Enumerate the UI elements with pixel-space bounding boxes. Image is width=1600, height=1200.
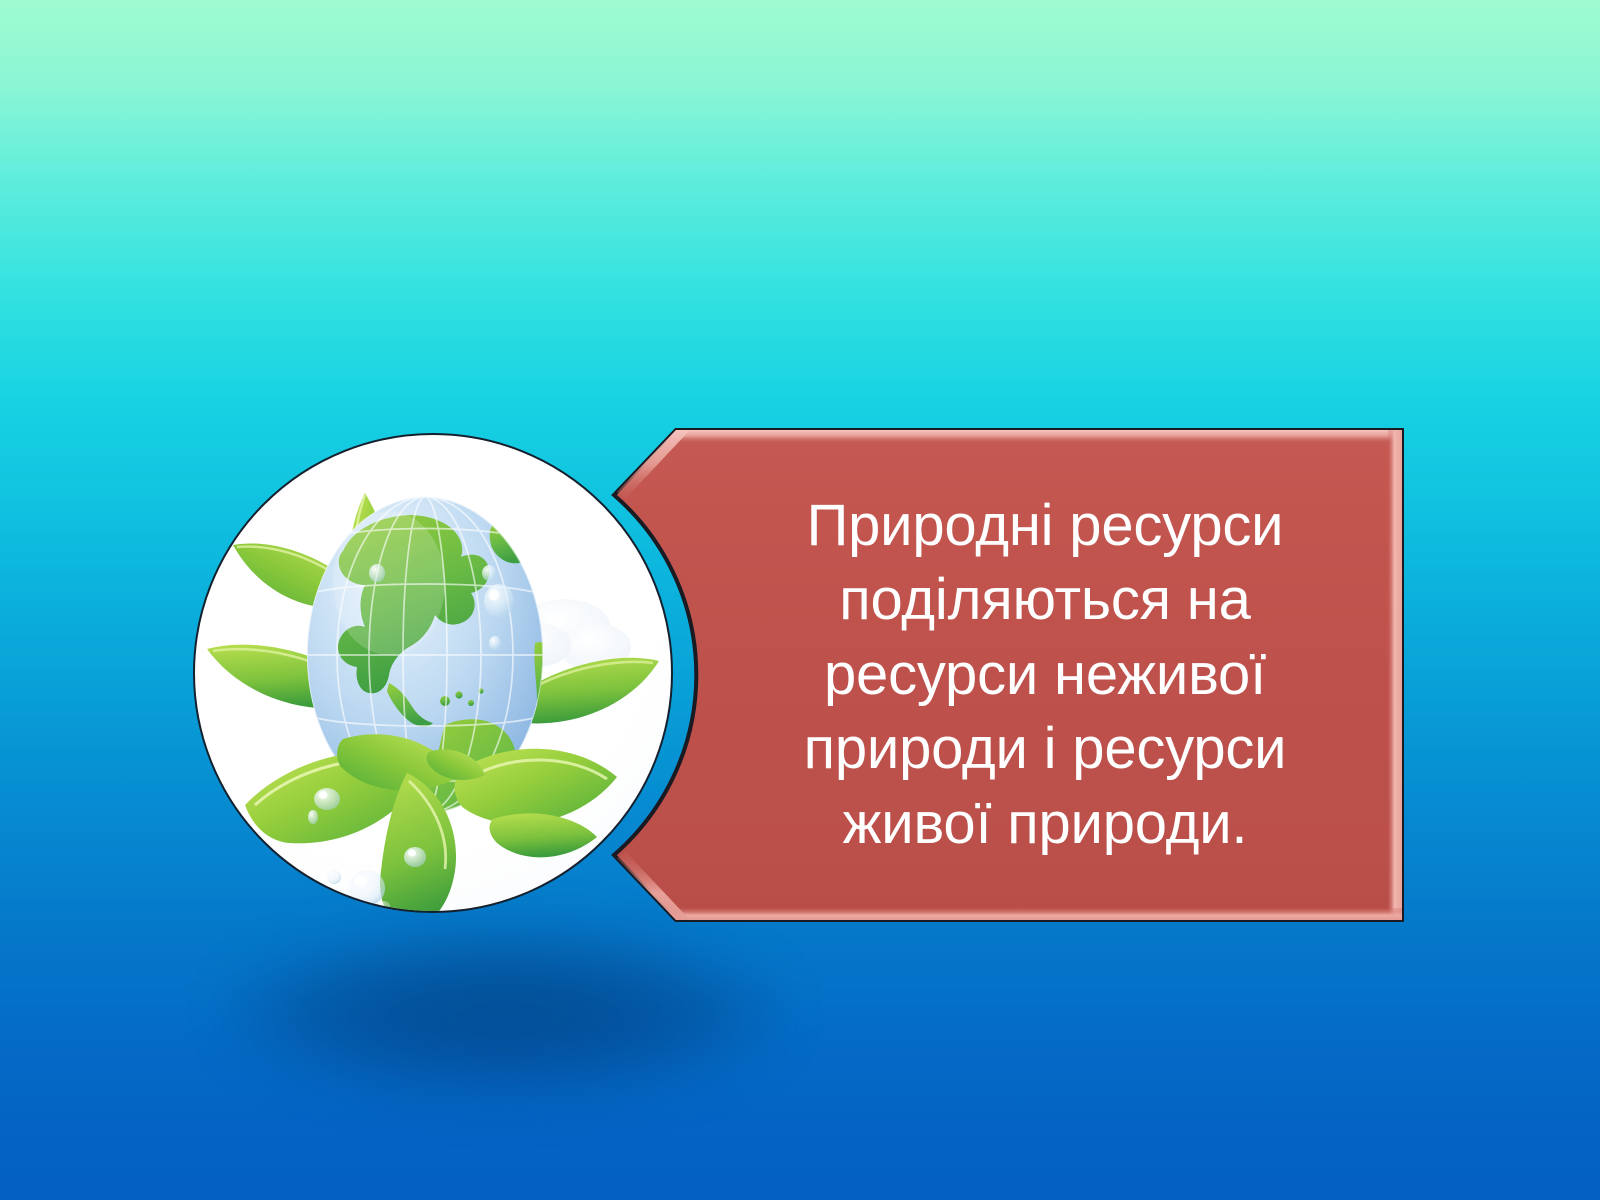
callout-line-2: поділяються на [839,563,1250,638]
slide-canvas: Природні ресурси поділяються на ресурси … [0,0,1600,1200]
ground-shadow [235,930,775,1095]
eco-globe-illustration [193,433,673,913]
callout-bevel-top [612,430,1404,442]
callout-bevel-bottom [612,908,1404,920]
callout-line-1: Природні ресурси [807,489,1284,564]
leaves-front [245,734,617,913]
callout-line-3: ресурси неживої [824,638,1266,713]
callout-bevel-right [1388,428,1402,922]
callout-line-4: природи і ресурси [804,712,1287,787]
callout-line-5: живої природи. [843,787,1248,862]
callout-text-block: Природні ресурси поділяються на ресурси … [700,455,1390,895]
eco-globe-circle[interactable] [193,433,673,913]
